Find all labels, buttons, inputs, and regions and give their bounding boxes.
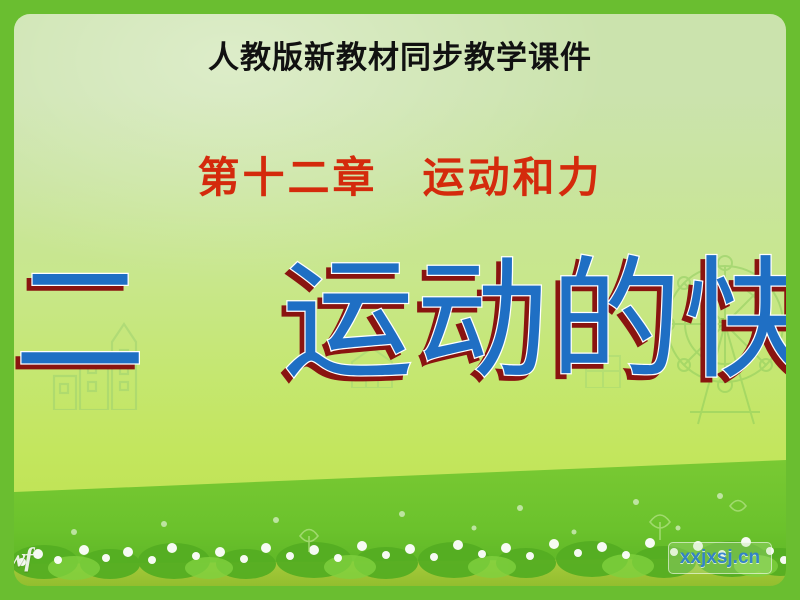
slide-frame: 人教版新教材同步教学课件 第十二章 运动和力 二 运动的快慢 二 运动的快慢 w…: [0, 0, 800, 600]
section-title-wordart: 二 运动的快慢 二 运动的快慢: [14, 232, 786, 432]
slide-canvas: 人教版新教材同步教学课件 第十二章 运动和力 二 运动的快慢 二 运动的快慢 w…: [14, 14, 786, 586]
watermark-logo: xxjxsj.cn: [668, 542, 772, 574]
section-title-face: 二 运动的快慢: [14, 247, 786, 394]
watermark-logo-text: xxjxsj.cn: [680, 547, 760, 569]
page-title: 人教版新教材同步教学课件: [14, 40, 786, 76]
chapter-title: 第十二章 运动和力: [14, 154, 786, 204]
watermark-left: wf: [14, 543, 32, 573]
